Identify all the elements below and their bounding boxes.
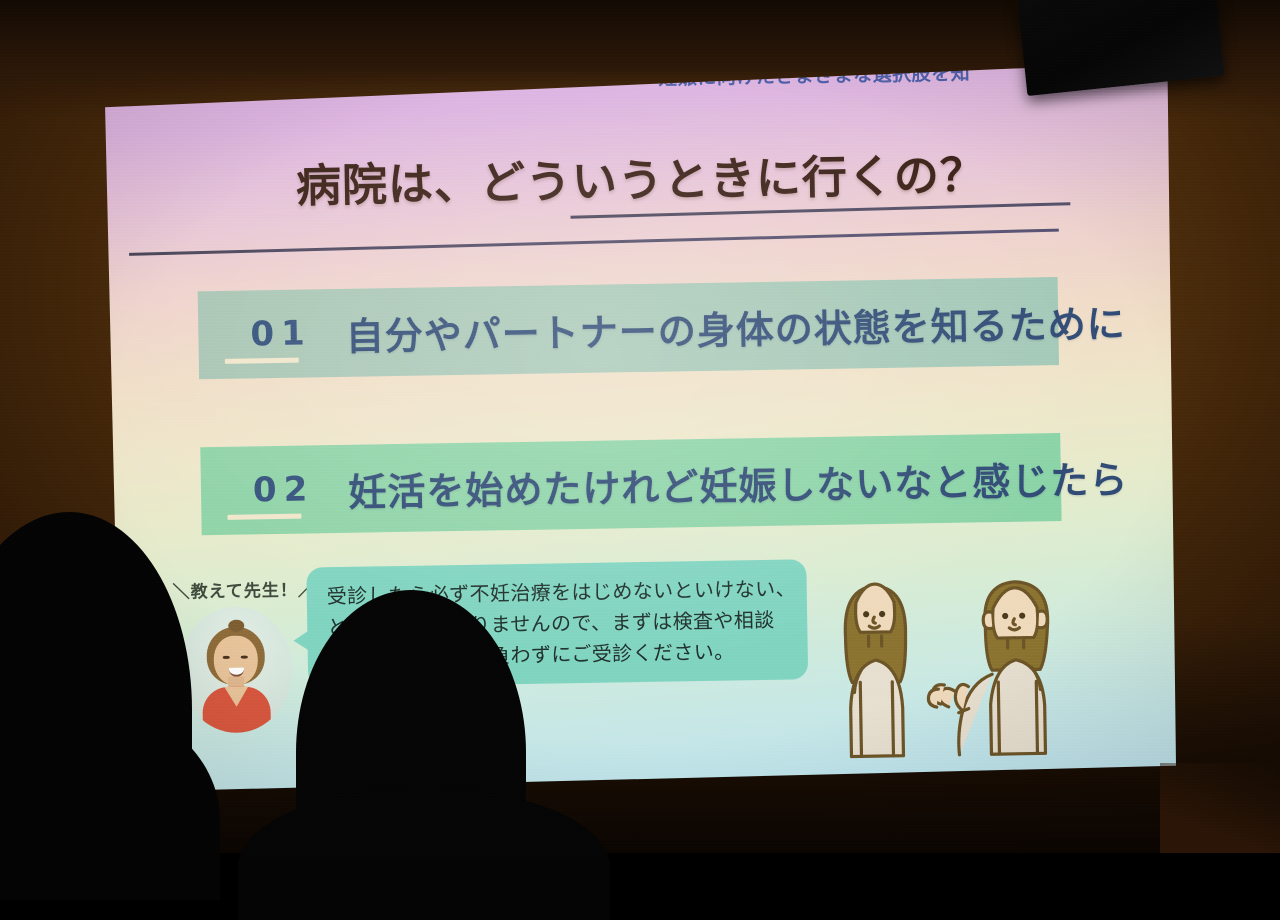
list-item: 01 自分やパートナーの身体の状態を知るために <box>198 277 1059 379</box>
list-item: 02 妊活を始めたけれど妊娠しないなと感じたら <box>200 433 1061 535</box>
avatar-eye-right <box>241 656 248 659</box>
item-number-group: 02 <box>227 469 315 510</box>
couple-illustration <box>824 554 1128 774</box>
item-number-group: 01 <box>224 313 312 354</box>
slide-title: 病院は、どういうときに行くの？ <box>295 138 986 214</box>
room-corner-shadow <box>1160 763 1280 853</box>
doctor-avatar <box>179 606 293 734</box>
item-number: 01 <box>250 313 312 354</box>
avatar-eye-left <box>223 656 230 659</box>
title-rule-bottom <box>129 229 1059 256</box>
ask-doctor-label: ＼教えて先生！／ <box>172 575 316 602</box>
projection-screen: 妊娠に向けたさまざまな選択肢を知 病院は、どういうときに行くの？ 01 自分やパ… <box>104 62 1176 792</box>
couple-illustration-svg <box>824 554 1128 774</box>
avatar-smile <box>229 668 244 677</box>
item-number: 02 <box>253 469 315 510</box>
audience-shoulders-center <box>238 790 610 920</box>
slide-content: 妊娠に向けたさまざまな選択肢を知 病院は、どういうときに行くの？ 01 自分やパ… <box>104 62 1176 792</box>
projection-screen-area: 妊娠に向けたさまざまな選択肢を知 病院は、どういうときに行くの？ 01 自分やパ… <box>0 0 1280 853</box>
